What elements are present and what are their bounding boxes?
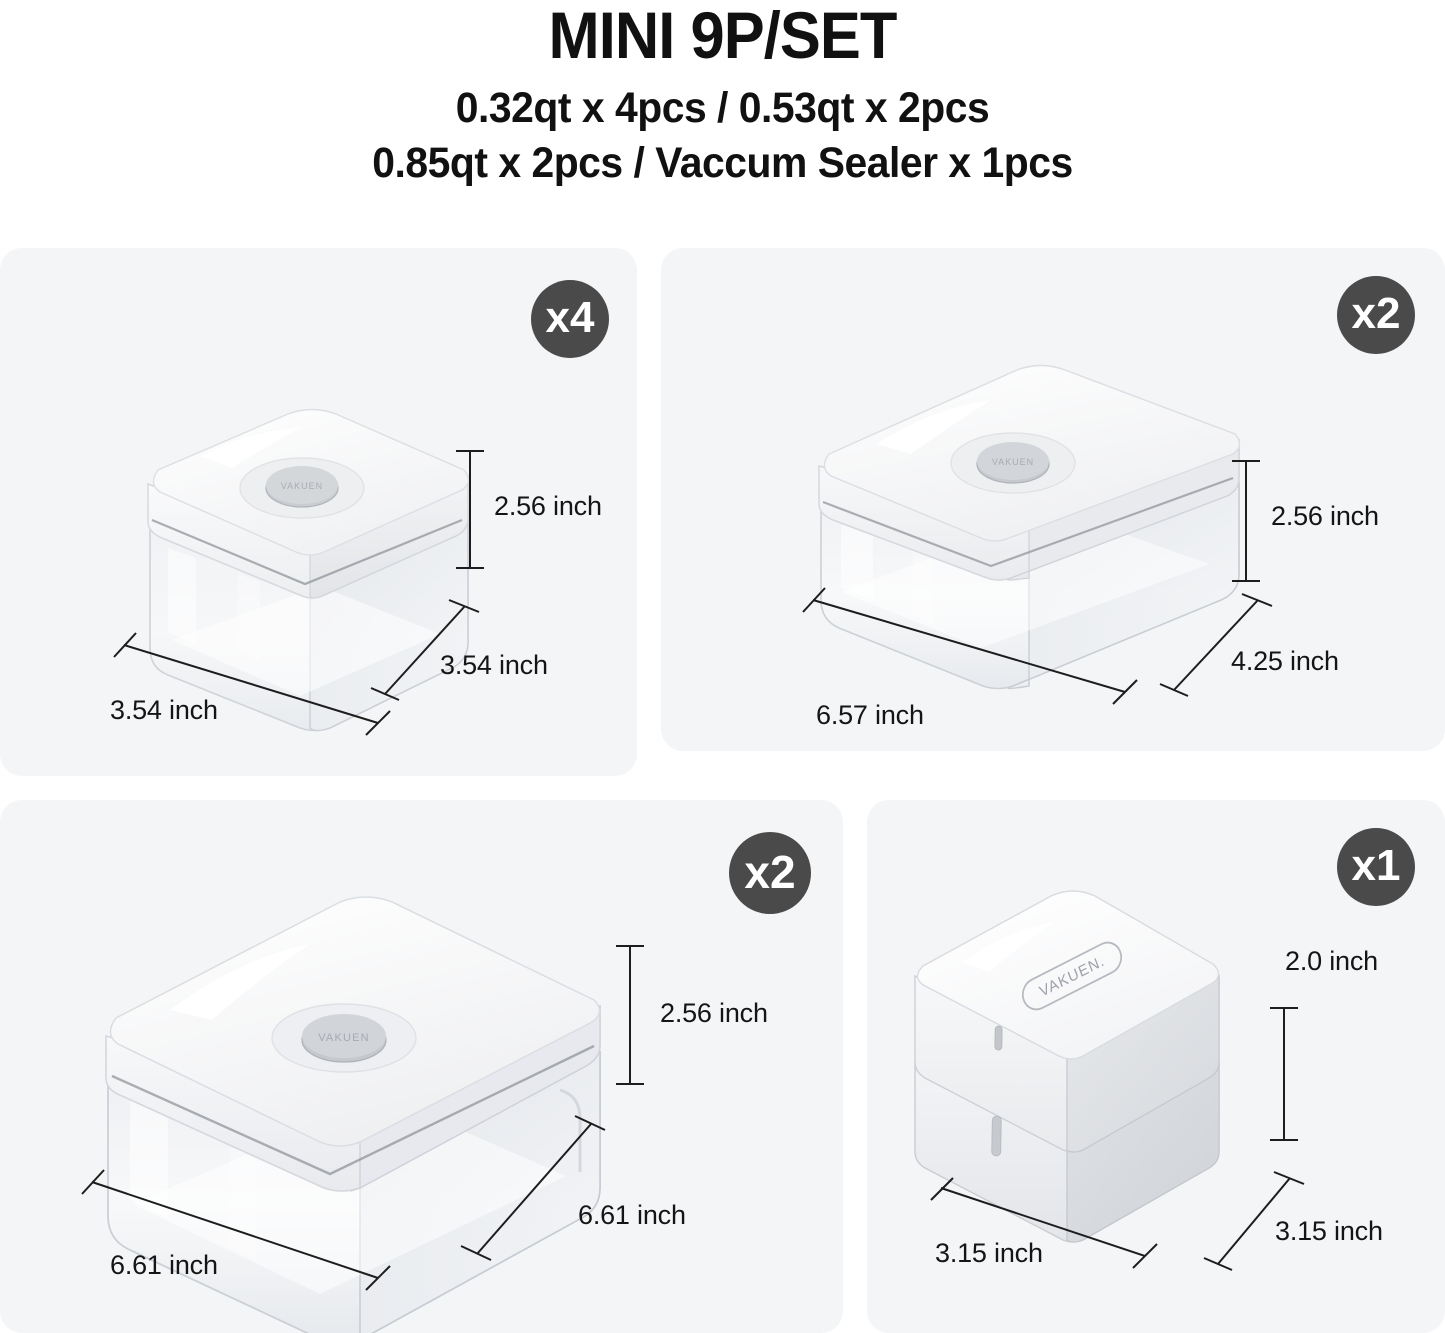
subtitle-line-1: 0.32qt x 4pcs / 0.53qt x 2pcs xyxy=(36,81,1409,136)
dimension-label-depth: 6.61 inch xyxy=(578,1200,686,1231)
dimension-label-depth: 3.15 inch xyxy=(1275,1216,1383,1247)
dimension-label-width: 3.15 inch xyxy=(935,1238,1043,1269)
product-panel-grid: x4 xyxy=(0,248,1445,1333)
panel-container-small-square: x4 xyxy=(0,248,637,776)
page-title: MINI 9P/SET xyxy=(51,2,1395,69)
panel-container-large-square: x2 xyxy=(0,800,843,1333)
svg-text:VAKUEN: VAKUEN xyxy=(992,457,1034,467)
panel-vacuum-sealer: x1 xyxy=(867,800,1445,1333)
header: MINI 9P/SET 0.32qt x 4pcs / 0.53qt x 2pc… xyxy=(0,0,1445,191)
product-spec-infographic: MINI 9P/SET 0.32qt x 4pcs / 0.53qt x 2pc… xyxy=(0,0,1445,1333)
dimension-label-depth: 3.54 inch xyxy=(440,650,548,681)
dimension-label-width: 6.61 inch xyxy=(110,1250,218,1281)
subtitle-line-2: 0.85qt x 2pcs / Vaccum Sealer x 1pcs xyxy=(36,136,1409,191)
dimension-label-height: 2.0 inch xyxy=(1285,946,1378,977)
dimension-label-height: 2.56 inch xyxy=(660,998,768,1029)
svg-text:VAKUEN: VAKUEN xyxy=(281,481,323,491)
subtitle-block: 0.32qt x 4pcs / 0.53qt x 2pcs 0.85qt x 2… xyxy=(0,81,1445,191)
panel-container-rectangular: x2 xyxy=(661,248,1445,751)
dimension-label-width: 3.54 inch xyxy=(110,695,218,726)
dimension-label-height: 2.56 inch xyxy=(494,491,602,522)
svg-text:VAKUEN: VAKUEN xyxy=(318,1032,370,1044)
dimension-label-width: 6.57 inch xyxy=(816,700,924,731)
dimension-label-height: 2.56 inch xyxy=(1271,501,1379,532)
dimension-label-depth: 4.25 inch xyxy=(1231,646,1339,677)
